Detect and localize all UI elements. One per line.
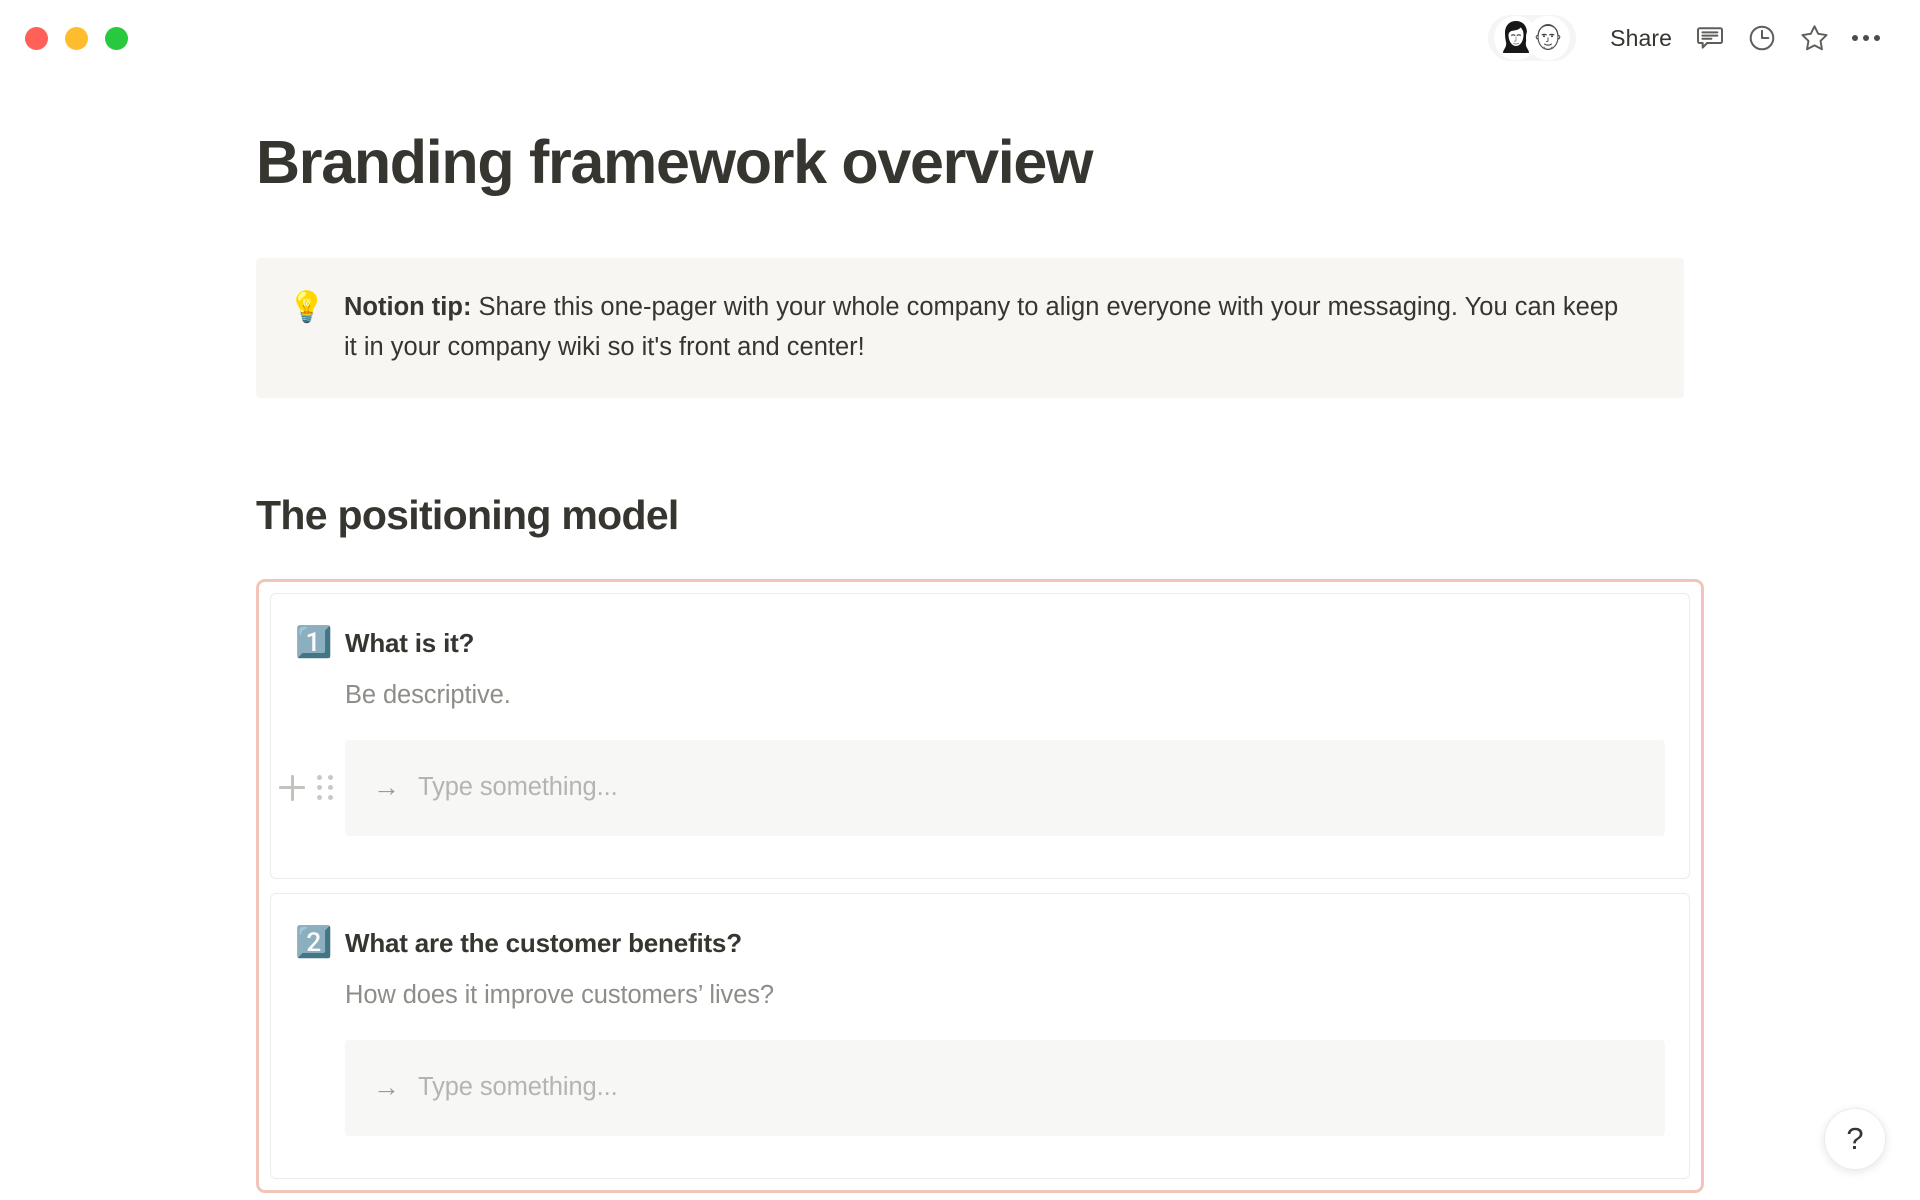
minimize-window-button[interactable]: [65, 27, 88, 50]
keycap-one-emoji: 1️⃣: [295, 628, 329, 658]
answer-input-placeholder: Type something...: [418, 1073, 618, 1102]
arrow-right-icon: →: [373, 774, 400, 801]
star-favorite-icon[interactable]: [1788, 15, 1840, 61]
help-button[interactable]: ?: [1824, 1108, 1886, 1170]
toolbar-actions: Share: [1488, 15, 1892, 61]
more-options-dots: [1852, 35, 1880, 41]
document-page: Branding framework overview 💡 Notion tip…: [0, 76, 1920, 1200]
question-card: 2️⃣ What are the customer benefits? How …: [270, 893, 1690, 1179]
comment-icon[interactable]: [1684, 15, 1736, 61]
window-traffic-lights: [25, 27, 128, 50]
question-header: 1️⃣ What is it?: [271, 628, 1689, 659]
avatar-man[interactable]: [1526, 16, 1570, 60]
zoom-window-button[interactable]: [105, 27, 128, 50]
page-title[interactable]: Branding framework overview: [256, 128, 1706, 196]
question-title[interactable]: What are the customer benefits?: [345, 928, 742, 959]
question-title[interactable]: What is it?: [345, 628, 474, 659]
arrow-right-icon: →: [373, 1074, 400, 1101]
app-window: Share: [0, 0, 1920, 1200]
answer-input[interactable]: → Type something...: [345, 1040, 1665, 1136]
lightbulb-emoji: 💡: [288, 288, 322, 327]
section-heading-positioning-model[interactable]: The positioning model: [256, 492, 1706, 539]
add-block-button[interactable]: [279, 775, 305, 801]
block-controls: [271, 740, 345, 836]
close-window-button[interactable]: [25, 27, 48, 50]
positioning-model-container: 1️⃣ What is it? Be descriptive. →: [256, 579, 1704, 1193]
title-bar: Share: [0, 0, 1920, 76]
question-input-row: → Type something...: [271, 740, 1689, 836]
question-subtitle: How does it improve customers’ lives?: [271, 981, 1689, 1010]
document-content: Branding framework overview 💡 Notion tip…: [256, 76, 1706, 1193]
keycap-two-emoji: 2️⃣: [295, 928, 329, 958]
block-controls: [271, 1040, 345, 1136]
more-options-icon[interactable]: [1840, 15, 1892, 61]
callout-body: Share this one-pager with your whole com…: [344, 293, 1618, 361]
question-input-row: → Type something...: [271, 1040, 1689, 1136]
answer-input-placeholder: Type something...: [418, 773, 618, 802]
callout-lead: Notion tip:: [344, 293, 471, 321]
history-clock-icon[interactable]: [1736, 15, 1788, 61]
callout-text: Notion tip: Share this one-pager with yo…: [344, 288, 1634, 368]
question-header: 2️⃣ What are the customer benefits?: [271, 928, 1689, 959]
share-button[interactable]: Share: [1598, 19, 1684, 58]
notion-tip-callout[interactable]: 💡 Notion tip: Share this one-pager with …: [256, 258, 1684, 398]
question-card: 1️⃣ What is it? Be descriptive. →: [270, 593, 1690, 879]
collaborator-avatars[interactable]: [1488, 15, 1576, 61]
question-subtitle: Be descriptive.: [271, 681, 1689, 710]
answer-input[interactable]: → Type something...: [345, 740, 1665, 836]
drag-handle-icon[interactable]: [317, 775, 333, 800]
